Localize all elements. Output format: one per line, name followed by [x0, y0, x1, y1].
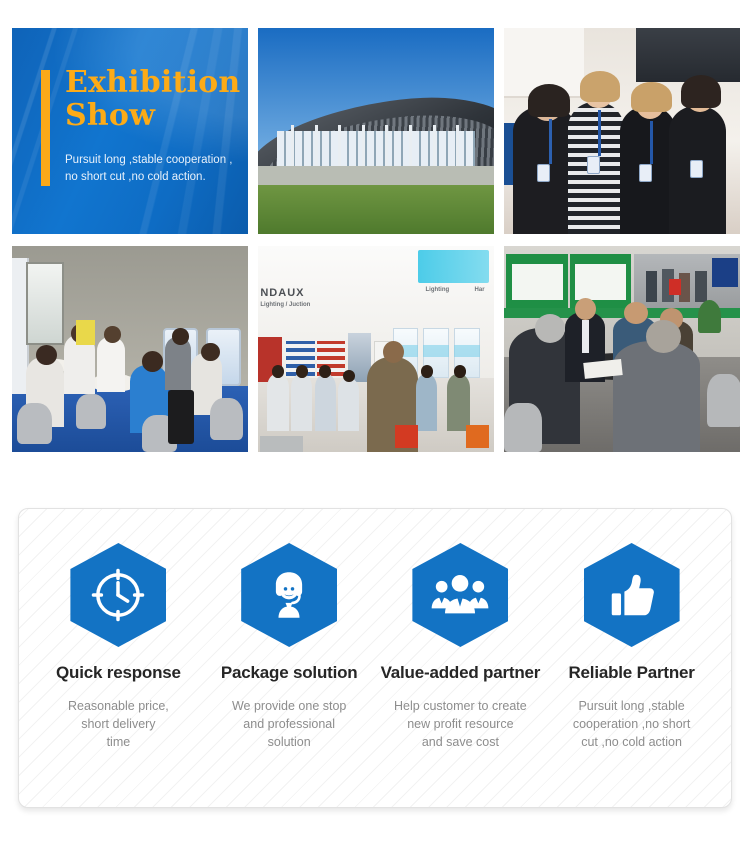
feature-title: Value-added partner — [381, 663, 541, 683]
exhibition-show-banner: Exhibition Show Pursuit long ,stable coo… — [12, 28, 248, 234]
feature-title: Package solution — [210, 663, 369, 683]
feature-desc-line: Pursuit long ,stable — [552, 697, 711, 715]
feature-title: Quick response — [39, 663, 198, 683]
feature-desc-line: and save cost — [381, 733, 541, 751]
feature-package-solution[interactable]: Package solution We provide one stop and… — [204, 543, 375, 751]
feature-description: Pursuit long ,stable cooperation ,no sho… — [552, 697, 711, 751]
accent-bar — [41, 70, 50, 186]
convention-center-building — [258, 28, 494, 234]
banner-subtitle-line2: no short cut ,no cold action. — [65, 169, 234, 186]
thumbs-up-icon — [584, 543, 680, 647]
feature-desc-line: short delivery — [39, 715, 198, 733]
showroom-display-aisle: NDAUX Lighting / Juction Lighting Har — [258, 246, 494, 452]
feature-description: We provide one stop and professional sol… — [210, 697, 369, 751]
feature-quick-response[interactable]: Quick response Reasonable price, short d… — [33, 543, 204, 751]
feature-desc-line: Help customer to create — [381, 697, 541, 715]
feature-desc-line: Reasonable price, — [39, 697, 198, 715]
banner-title-line2: Show — [65, 99, 234, 132]
four-women-at-booth — [504, 28, 740, 234]
banner-title-line1: Exhibition — [65, 66, 234, 99]
features-panel: Quick response Reasonable price, short d… — [18, 508, 732, 808]
feature-desc-line: cut ,no cold action — [552, 733, 711, 751]
feature-reliable-partner[interactable]: Reliable Partner Pursuit long ,stable co… — [546, 543, 717, 751]
feature-description: Help customer to create new profit resou… — [381, 697, 541, 751]
people-group-icon — [412, 543, 508, 647]
feature-desc-line: time — [39, 733, 198, 751]
feature-title: Reliable Partner — [552, 663, 711, 683]
feature-desc-line: cooperation ,no short — [552, 715, 711, 733]
exhibition-page: Exhibition Show Pursuit long ,stable coo… — [0, 0, 750, 866]
feature-desc-line: new profit resource — [381, 715, 541, 733]
features-row: Quick response Reasonable price, short d… — [19, 509, 731, 751]
feature-description: Reasonable price, short delivery time — [39, 697, 198, 751]
feature-desc-line: solution — [210, 733, 369, 751]
feature-desc-line: and professional — [210, 715, 369, 733]
banner-title: Exhibition Show — [65, 66, 234, 132]
clock-icon — [70, 543, 166, 647]
banner-subtitle-line1: Pursuit long ,stable cooperation , — [65, 152, 234, 169]
feature-value-added-partner[interactable]: Value-added partner Help customer to cre… — [375, 543, 547, 751]
booth-panel-text-2: Har — [475, 287, 485, 293]
photo-gallery: Exhibition Show Pursuit long ,stable coo… — [12, 28, 738, 452]
banner-subtitle: Pursuit long ,stable cooperation , no sh… — [65, 152, 234, 186]
feature-desc-line: We provide one stop — [210, 697, 369, 715]
headset-support-agent-icon — [241, 543, 337, 647]
booth-brand-text: NDAUX — [260, 287, 304, 299]
booth-panel-text-1: Lighting — [426, 287, 450, 293]
booth-meeting-area — [12, 246, 248, 452]
booth-brand-subtext: Lighting / Juction — [260, 302, 310, 308]
business-negotiation-table — [504, 246, 740, 452]
